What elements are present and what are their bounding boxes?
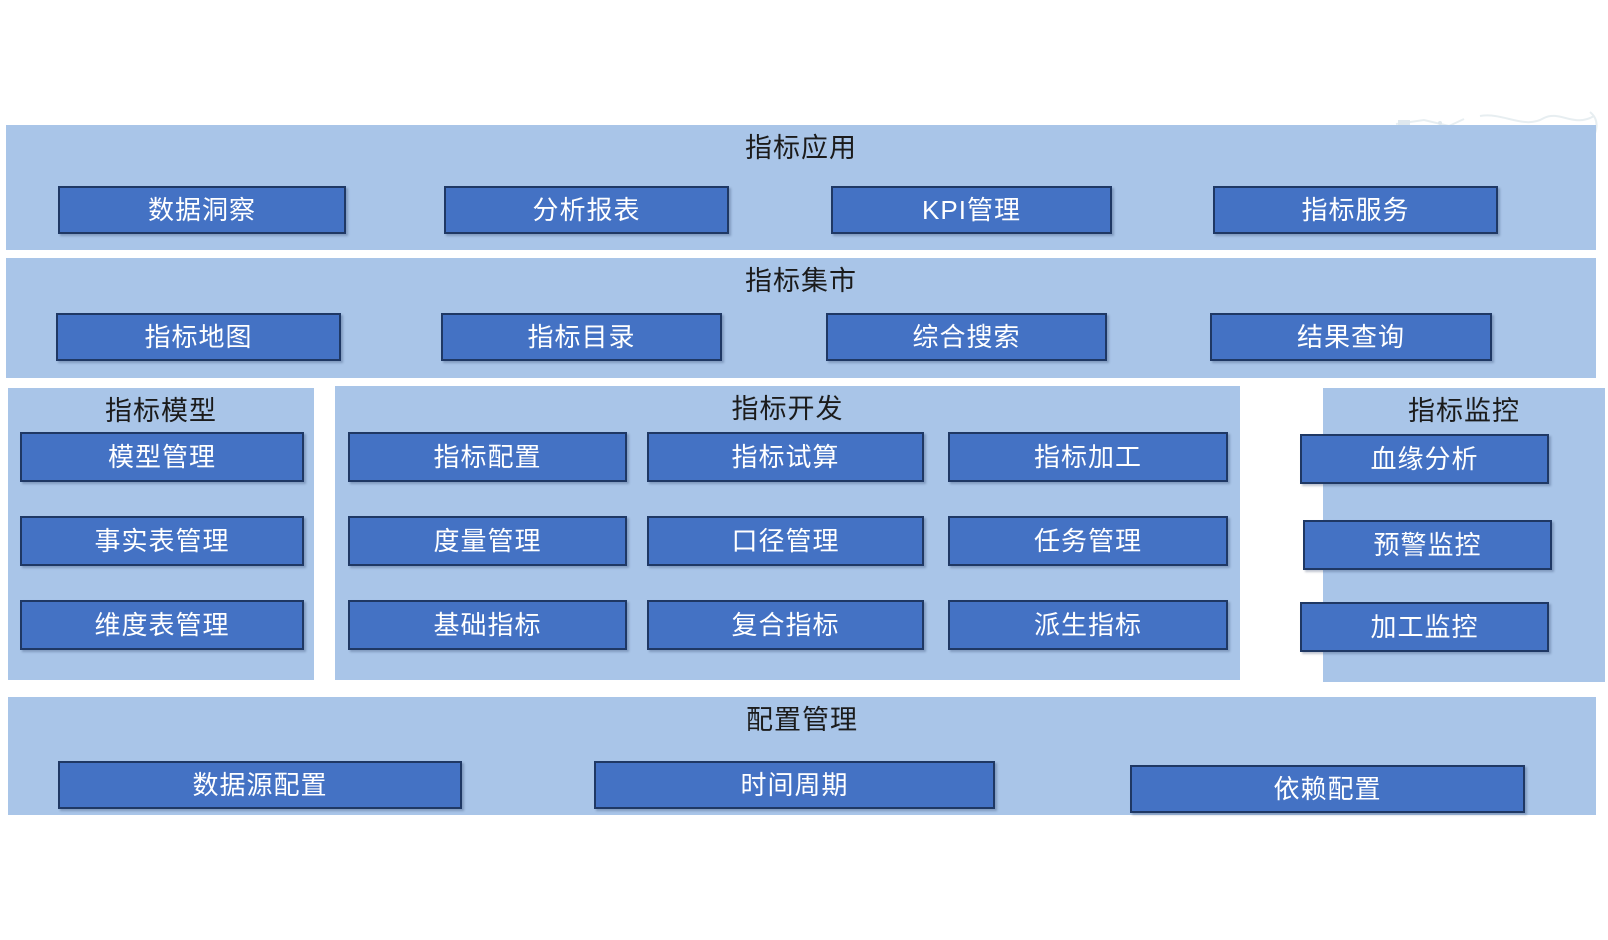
tile-analysis-report[interactable]: 分析报表	[444, 186, 729, 234]
section-title-model: 指标模型	[8, 388, 314, 428]
tile-kpi-management[interactable]: KPI管理	[831, 186, 1112, 234]
section-title-monitoring: 指标监控	[1323, 388, 1605, 428]
tile-dimension-table-management[interactable]: 维度表管理	[20, 600, 304, 650]
section-title-application: 指标应用	[6, 125, 1596, 165]
tile-fact-table-management[interactable]: 事实表管理	[20, 516, 304, 566]
tile-metric-configuration[interactable]: 指标配置	[348, 432, 627, 482]
section-title-configuration: 配置管理	[8, 697, 1596, 737]
tile-composite-metric[interactable]: 复合指标	[647, 600, 924, 650]
tile-comprehensive-search[interactable]: 综合搜索	[826, 313, 1107, 361]
tile-basic-metric[interactable]: 基础指标	[348, 600, 627, 650]
tile-measure-management[interactable]: 度量管理	[348, 516, 627, 566]
tile-metric-map[interactable]: 指标地图	[56, 313, 341, 361]
architecture-diagram: 指标应用 数据洞察 分析报表 KPI管理 指标服务 指标集市 指标地图 指标目录…	[0, 0, 1608, 940]
section-title-marketplace: 指标集市	[6, 258, 1596, 298]
tile-caliber-management[interactable]: 口径管理	[647, 516, 924, 566]
tile-data-insight[interactable]: 数据洞察	[58, 186, 346, 234]
tile-metric-service[interactable]: 指标服务	[1213, 186, 1498, 234]
tile-lineage-analysis[interactable]: 血缘分析	[1300, 434, 1549, 484]
tile-task-management[interactable]: 任务管理	[948, 516, 1228, 566]
tile-metric-processing[interactable]: 指标加工	[948, 432, 1228, 482]
tile-metric-catalog[interactable]: 指标目录	[441, 313, 722, 361]
tile-result-query[interactable]: 结果查询	[1210, 313, 1492, 361]
tile-model-management[interactable]: 模型管理	[20, 432, 304, 482]
tile-processing-monitoring[interactable]: 加工监控	[1300, 602, 1549, 652]
tile-derived-metric[interactable]: 派生指标	[948, 600, 1228, 650]
tile-time-period[interactable]: 时间周期	[594, 761, 995, 809]
tile-metric-trial-calculation[interactable]: 指标试算	[647, 432, 924, 482]
tile-alert-monitoring[interactable]: 预警监控	[1303, 520, 1552, 570]
section-title-development: 指标开发	[335, 386, 1240, 426]
tile-datasource-configuration[interactable]: 数据源配置	[58, 761, 462, 809]
tile-dependency-configuration[interactable]: 依赖配置	[1130, 765, 1525, 813]
